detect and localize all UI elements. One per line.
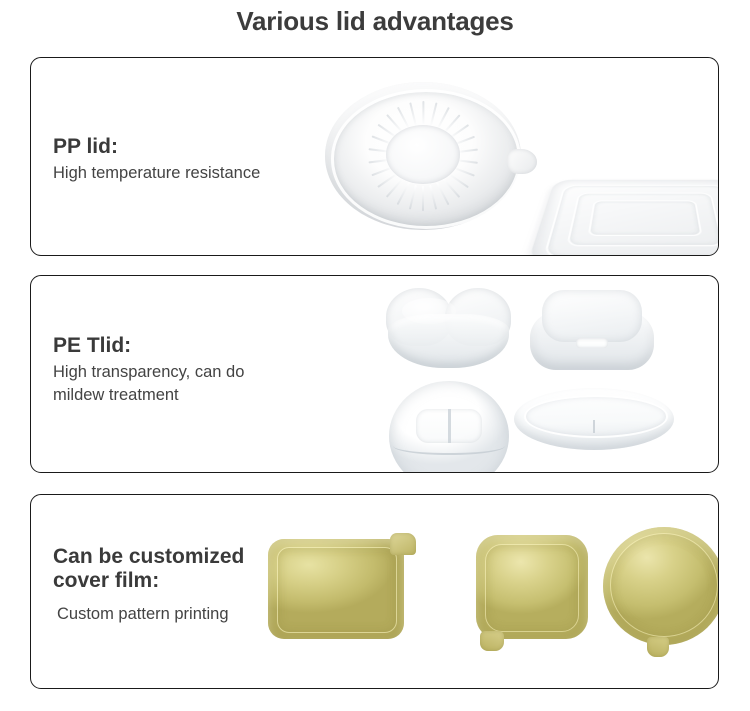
round-lid-rib — [447, 172, 469, 188]
gold-rect-pull-tab — [390, 533, 416, 555]
square-lid-base — [530, 312, 654, 370]
card-pe-lid-heading: PE Tlid: — [53, 334, 244, 358]
card-pp-lid-text-block: PP lid: High temperature resistance — [53, 135, 260, 185]
gold-square-pull-tab — [480, 631, 504, 651]
gold-square-foil-surface — [476, 535, 588, 639]
product-hemisphere-dome-lid-image — [389, 381, 509, 455]
round-lid-rib — [442, 178, 460, 198]
gold-square-inner-ridge — [485, 544, 579, 632]
round-lid-rib — [422, 186, 424, 211]
round-lid-rib — [409, 102, 417, 127]
round-lid-rib — [386, 178, 404, 198]
round-lid-rib — [451, 166, 475, 177]
product-rectangular-lid-image — [527, 180, 719, 256]
product-round-ribbed-lid-image — [325, 82, 521, 230]
gold-rect-inner-ridge — [277, 547, 397, 633]
product-gold-square-foil-lid-image — [474, 535, 592, 651]
oval-lid-plate — [514, 388, 674, 450]
card-cover-film: Can be customized cover film: Custom pat… — [30, 494, 719, 689]
product-oval-flat-lid-image — [514, 388, 674, 450]
rect-lid-ridge-inner — [588, 200, 703, 236]
dome-lid-lip — [393, 437, 505, 455]
gold-round-foil-surface — [603, 527, 719, 645]
card-pe-lid: PE Tlid: High transparency, can do milde… — [30, 275, 719, 473]
card-pe-lid-subtitle: High transparency, can do mildew treatme… — [53, 361, 244, 408]
round-lid-rib — [368, 148, 393, 153]
round-lid-rib — [368, 158, 393, 163]
round-lid-rib — [396, 107, 410, 130]
page-title: Various lid advantages — [0, 6, 750, 37]
round-lid-rib — [442, 114, 460, 134]
round-lid-rib — [377, 172, 399, 188]
round-lid-rib — [371, 166, 395, 177]
round-lid-rib — [429, 102, 437, 127]
card-pp-lid-heading: PP lid: — [53, 135, 260, 159]
round-lid-rib — [453, 158, 478, 163]
rect-lid-ridge-outer — [543, 185, 719, 256]
gold-rect-foil-surface — [268, 539, 404, 639]
product-gold-round-foil-lid-image — [603, 527, 719, 657]
round-lid-pull-tab — [507, 149, 537, 174]
rect-lid-ridge-middle — [566, 192, 719, 246]
round-lid-rib — [429, 185, 437, 210]
round-lid-rib — [453, 148, 478, 153]
round-lid-rib — [451, 135, 475, 146]
round-lid-rib — [396, 182, 410, 205]
square-lid-notch — [576, 338, 608, 348]
card-pe-lid-text-block: PE Tlid: High transparency, can do milde… — [53, 334, 244, 407]
round-lid-center-hub — [386, 125, 460, 184]
heart-lid-highlight — [402, 298, 456, 324]
round-lid-rib — [409, 185, 417, 210]
round-lid-rib — [447, 124, 469, 140]
rect-lid-body — [527, 180, 719, 256]
round-lid-rib — [422, 101, 424, 126]
heart-lid-right-lobe — [445, 288, 511, 346]
round-lid-rib — [436, 182, 450, 205]
card-cover-film-heading: Can be customized cover film: — [53, 545, 244, 592]
product-gold-rectangular-foil-lid-image — [268, 533, 416, 641]
round-lid-rib — [371, 135, 395, 146]
round-lid-ribs — [325, 82, 521, 230]
round-lid-rib — [377, 124, 399, 140]
round-lid-disc — [325, 82, 521, 230]
dome-lid-cap — [389, 381, 509, 473]
oval-lid-tick — [593, 420, 595, 433]
gold-round-pull-tab — [647, 637, 669, 657]
heart-lid-skirt — [388, 314, 509, 368]
card-cover-film-text-block: Can be customized cover film: Custom pat… — [53, 545, 244, 626]
gold-round-inner-ridge — [610, 533, 718, 637]
card-pp-lid: PP lid: High temperature resistance — [30, 57, 719, 256]
oval-lid-ridge — [524, 395, 669, 437]
round-lid-rib — [436, 107, 450, 130]
dome-lid-divider — [448, 409, 451, 443]
card-pp-lid-subtitle: High temperature resistance — [53, 162, 260, 185]
product-heart-dome-lid-image — [386, 288, 511, 370]
dome-lid-inner-panel — [416, 409, 482, 443]
round-lid-rim — [331, 89, 521, 228]
round-lid-rib — [386, 114, 404, 134]
square-lid-top — [542, 290, 642, 342]
card-cover-film-subtitle: Custom pattern printing — [53, 603, 244, 626]
product-square-dome-lid-image — [530, 290, 654, 374]
heart-lid-left-lobe — [386, 288, 452, 346]
